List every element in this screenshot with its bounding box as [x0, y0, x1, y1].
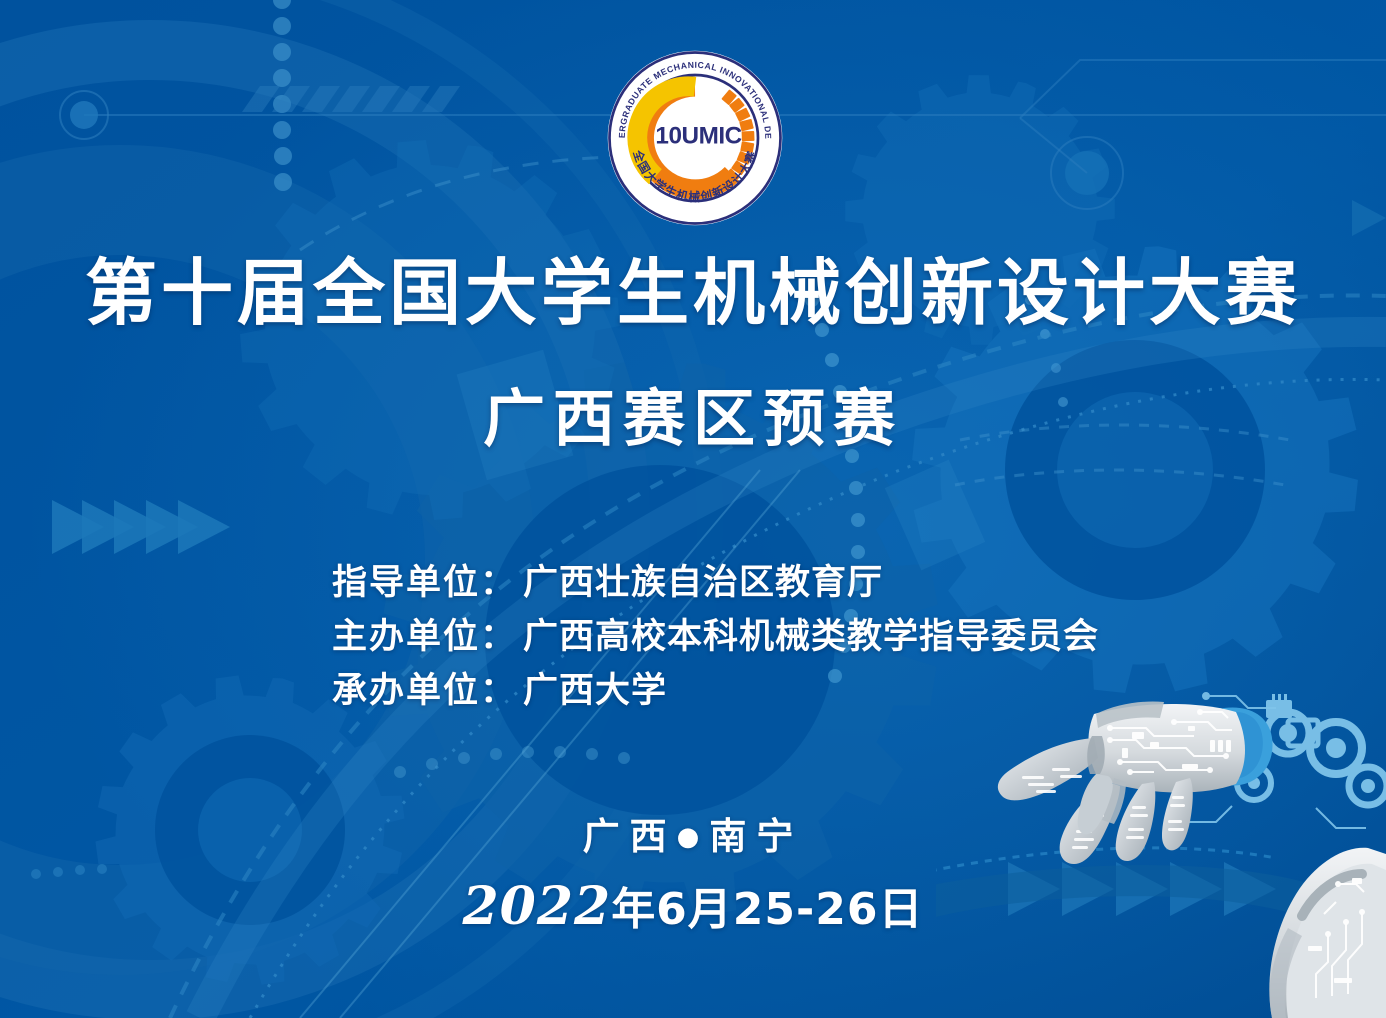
- organizer-label: 主办单位：: [332, 617, 517, 657]
- competition-logo: THE NATIONAL UNDERGRADUATE MECHANICAL IN…: [605, 48, 785, 228]
- organizer-row-guidance: 指导单位：广西壮族自治区教育厅: [332, 556, 1152, 610]
- page-subtitle: 广西赛区预赛: [0, 368, 1386, 458]
- event-date-rest: 年6月25-26日: [611, 884, 923, 935]
- event-date-year: 2022: [462, 876, 611, 937]
- organizer-value: 广西高校本科机械类教学指导委员会: [523, 617, 1099, 657]
- organizer-row-host: 主办单位：广西高校本科机械类教学指导委员会: [332, 610, 1152, 664]
- page-title: 第十届全国大学生机械创新设计大赛: [0, 234, 1386, 339]
- location-province: 广西: [583, 815, 677, 858]
- location-city: 南宁: [709, 815, 803, 858]
- organizer-value: 广西壮族自治区教育厅: [523, 563, 883, 603]
- robotic-hand-illustration: [936, 678, 1386, 1018]
- logo-center-text: 10UMIC: [655, 122, 741, 149]
- organizer-label: 指导单位：: [332, 563, 517, 603]
- poster-canvas: THE NATIONAL UNDERGRADUATE MECHANICAL IN…: [0, 0, 1386, 1018]
- organizer-label: 承办单位：: [332, 671, 517, 711]
- organizer-value: 广西大学: [523, 671, 667, 711]
- bullet-separator-icon: ●: [677, 822, 710, 852]
